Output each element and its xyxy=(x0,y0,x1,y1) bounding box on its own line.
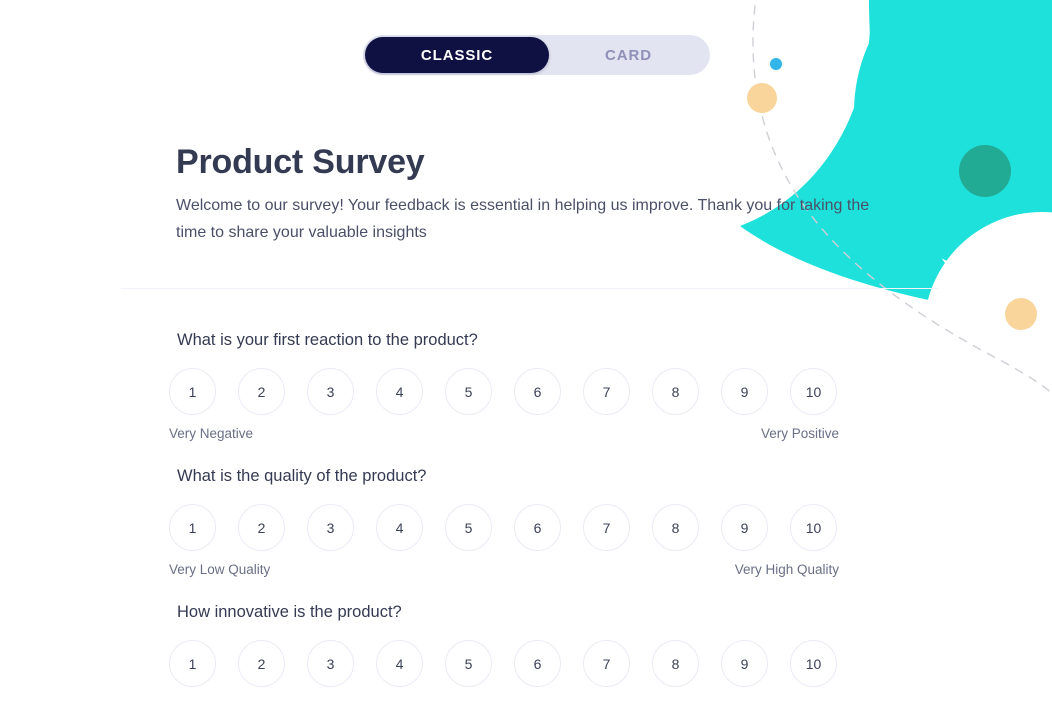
rating-option[interactable]: 1 xyxy=(169,640,216,687)
rating-option[interactable]: 2 xyxy=(238,504,285,551)
rating-option[interactable]: 5 xyxy=(445,368,492,415)
rating-option[interactable]: 10 xyxy=(790,640,837,687)
rating-option[interactable]: 4 xyxy=(376,368,423,415)
rating-option[interactable]: 7 xyxy=(583,640,630,687)
rating-option[interactable]: 6 xyxy=(514,368,561,415)
rating-option[interactable]: 5 xyxy=(445,640,492,687)
cyan-blob-main xyxy=(869,0,1052,300)
rating-option[interactable]: 10 xyxy=(790,504,837,551)
rating-option[interactable]: 6 xyxy=(514,640,561,687)
page-title: Product Survey xyxy=(176,139,876,185)
survey-page: CLASSIC CARD Product Survey Welcome to o… xyxy=(0,0,1052,711)
teal-circle-shape xyxy=(959,145,1011,197)
rating-option[interactable]: 8 xyxy=(652,368,699,415)
question-title: What is your first reaction to the produ… xyxy=(177,329,869,351)
toggle-option-classic[interactable]: CLASSIC xyxy=(365,37,549,73)
rating-option[interactable]: 8 xyxy=(652,640,699,687)
question-title: How innovative is the product? xyxy=(177,601,869,623)
rating-option[interactable]: 9 xyxy=(721,504,768,551)
header-divider xyxy=(121,288,938,289)
scale-label-right: Very High Quality xyxy=(735,562,839,577)
scale-endpoint-labels: Very Low Quality Very High Quality xyxy=(169,562,839,577)
rating-option[interactable]: 7 xyxy=(583,504,630,551)
page-subtitle: Welcome to our survey! Your feedback is … xyxy=(176,192,876,246)
rating-option[interactable]: 1 xyxy=(169,504,216,551)
rating-option[interactable]: 3 xyxy=(307,640,354,687)
rating-option[interactable]: 8 xyxy=(652,504,699,551)
cyan-blob-round xyxy=(854,0,1052,278)
rating-option[interactable]: 3 xyxy=(307,504,354,551)
scale-label-left: Very Negative xyxy=(169,426,253,441)
blob-notch xyxy=(924,212,1052,448)
scale-label-right: Very Positive xyxy=(761,426,839,441)
question-title: What is the quality of the product? xyxy=(177,465,869,487)
rating-option[interactable]: 4 xyxy=(376,640,423,687)
rating-option[interactable]: 2 xyxy=(238,368,285,415)
rating-option[interactable]: 4 xyxy=(376,504,423,551)
question-block: How innovative is the product? 1 2 3 4 5… xyxy=(169,601,869,687)
rating-option[interactable]: 9 xyxy=(721,368,768,415)
blue-dot-shape xyxy=(770,58,782,70)
question-block: What is your first reaction to the produ… xyxy=(169,329,869,441)
rating-scale[interactable]: 1 2 3 4 5 6 7 8 9 10 xyxy=(169,504,839,551)
rating-option[interactable]: 6 xyxy=(514,504,561,551)
orange-dot-top-shape xyxy=(747,83,777,113)
orange-dot-right-shape xyxy=(1005,298,1037,330)
rating-option[interactable]: 3 xyxy=(307,368,354,415)
view-mode-toggle[interactable]: CLASSIC CARD xyxy=(363,35,710,75)
rating-scale[interactable]: 1 2 3 4 5 6 7 8 9 10 xyxy=(169,640,839,687)
scale-label-left: Very Low Quality xyxy=(169,562,270,577)
toggle-option-card[interactable]: CARD xyxy=(549,37,708,73)
rating-option[interactable]: 9 xyxy=(721,640,768,687)
survey-header: Product Survey Welcome to our survey! Yo… xyxy=(176,139,876,246)
rating-option[interactable]: 1 xyxy=(169,368,216,415)
question-list: What is your first reaction to the produ… xyxy=(169,329,869,711)
rating-option[interactable]: 5 xyxy=(445,504,492,551)
rating-option[interactable]: 2 xyxy=(238,640,285,687)
rating-scale[interactable]: 1 2 3 4 5 6 7 8 9 10 xyxy=(169,368,839,415)
rating-option[interactable]: 7 xyxy=(583,368,630,415)
question-block: What is the quality of the product? 1 2 … xyxy=(169,465,869,577)
rating-option[interactable]: 10 xyxy=(790,368,837,415)
scale-endpoint-labels: Very Negative Very Positive xyxy=(169,426,839,441)
